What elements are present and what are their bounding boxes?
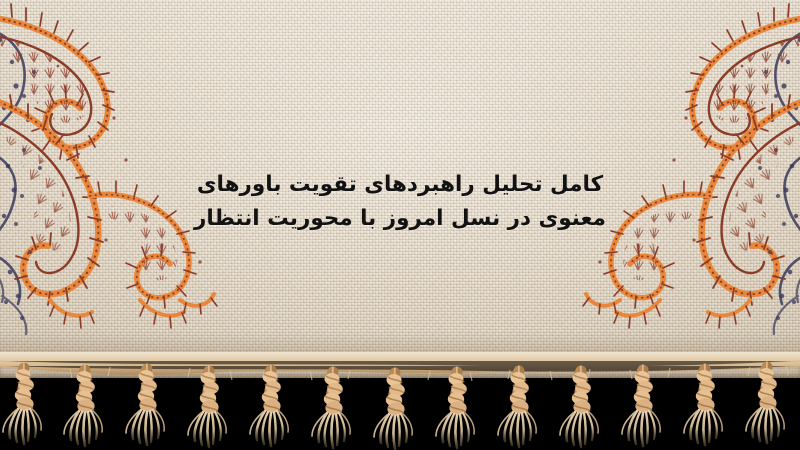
tassel: [498, 371, 536, 447]
tassel: [250, 370, 288, 446]
tassel: [374, 373, 412, 449]
fabric-weave-texture-diagonal: [0, 0, 800, 378]
tassel: [126, 369, 164, 445]
tassel: [436, 372, 474, 448]
tassel-fringe: [0, 352, 800, 450]
fabric-weave-texture: [0, 0, 800, 378]
fabric-background: کامل تحلیل راهبردهای تقویت باورهای معنوی…: [0, 0, 800, 378]
tassel: [622, 370, 660, 446]
tassel: [188, 371, 226, 447]
banner-headline: کامل تحلیل راهبردهای تقویت باورهای معنوی…: [0, 168, 800, 236]
tassel: [684, 369, 722, 445]
tassel: [746, 367, 784, 443]
fringe-svg: [0, 352, 800, 450]
headline-line-2: معنوی در نسل امروز با محوریت انتظار: [0, 202, 800, 236]
tassel: [312, 372, 350, 448]
paisley-ornament-left-icon: [0, 0, 294, 370]
tassel: [3, 368, 41, 444]
tassel-row: [3, 367, 784, 449]
banner-canvas: کامل تحلیل راهبردهای تقویت باورهای معنوی…: [0, 0, 800, 450]
paisley-ornament-right-icon: [506, 0, 800, 370]
tassel: [64, 370, 102, 446]
headline-line-1: کامل تحلیل راهبردهای تقویت باورهای: [0, 168, 800, 202]
tassel: [560, 371, 598, 447]
